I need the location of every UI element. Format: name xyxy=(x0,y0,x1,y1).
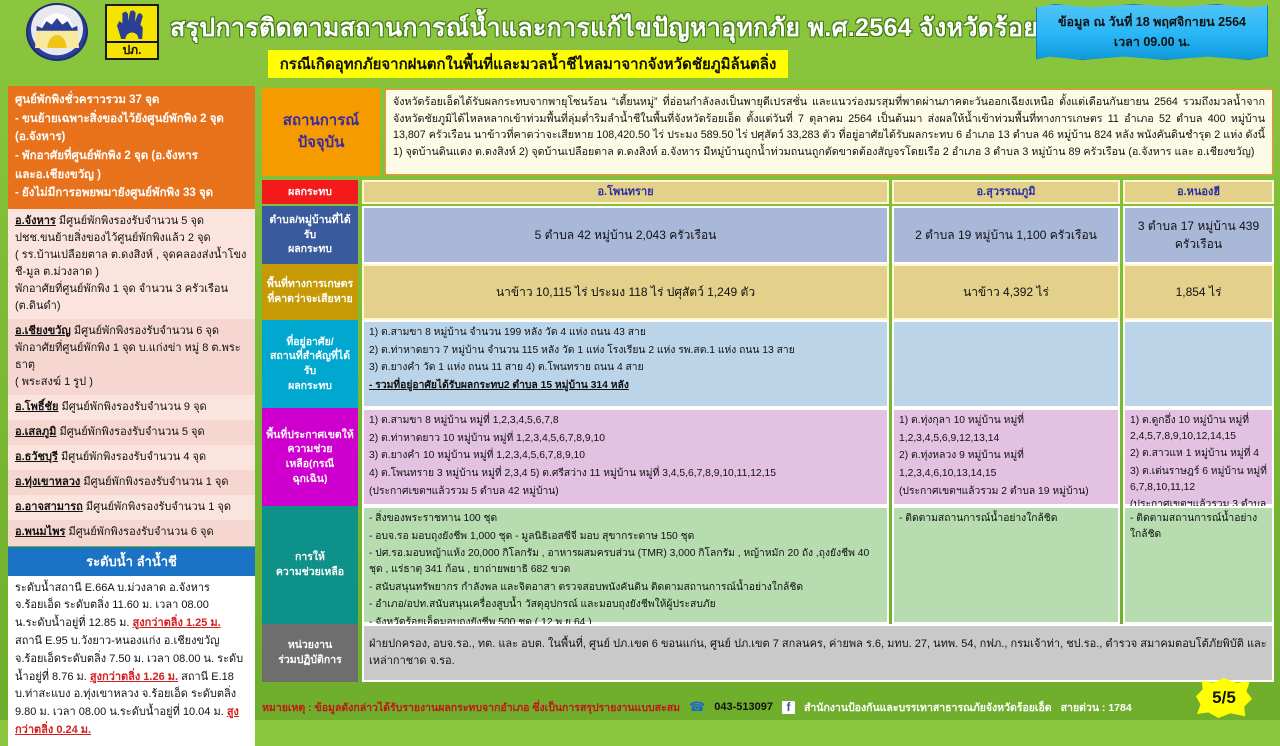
row-label-housing-impact-l2: สถานที่สำคัญที่ได้รับ xyxy=(265,349,355,378)
row-label-housing-impact: ที่อยู่อาศัย/ สถานที่สำคัญที่ได้รับ ผลกร… xyxy=(262,320,358,408)
table-header-label: ผลกระทบ xyxy=(262,180,358,204)
declared-zone-item: 2) ต.สาวแห 1 หมู่บ้าน หมู่ที่ 4 xyxy=(1130,446,1267,462)
row-label-agriculture-damage: พื้นที่ทางการเกษตร ที่คาดว่าจะเสียหาย xyxy=(262,264,358,320)
shelter-district-block: อ.ทุ่งเขาหลวง มีศูนย์พักพิงรองรับจำนวน 1… xyxy=(8,470,255,495)
shelter-summary-line-0: ศูนย์พักพิงชั่วคราวรวม 37 จุด xyxy=(15,91,248,110)
declared-zone-item: 4) ต.โพนทราย 3 หมู่บ้าน หมู่ที่ 2,3,4 5)… xyxy=(369,466,882,482)
assistance-item: ติดตามสถานการณ์น้ำอย่างใกล้ชิด xyxy=(899,511,1113,527)
row-label-affected-areas: ตำบล/หมู่บ้านที่ได้รับ ผลกระทบ xyxy=(262,206,358,264)
shelter-district-line: ( รร.บ้านเปลือยตาล ต.ดงสิงห์ , จุดคลองส่… xyxy=(15,247,248,281)
page-header: ปภ. สรุปการติดตามสถานการณ์น้ำและการแก้ไข… xyxy=(0,0,1280,84)
shelter-district-line: อ.ทุ่งเขาหลวง มีศูนย์พักพิงรองรับจำนวน 1… xyxy=(15,474,248,491)
shelter-district-block: อ.เสลภูมิ มีศูนย์พักพิงรองรับจำนวน 5 จุด xyxy=(8,420,255,445)
declared-zone-item: 1,2,3,4,6,10,13,14,15 xyxy=(899,466,1113,482)
table-row-affected-areas: ตำบล/หมู่บ้านที่ได้รับ ผลกระทบ 5 ตำบล 42… xyxy=(262,206,1274,264)
current-situation-label-l2: ปัจจุบัน xyxy=(298,132,345,154)
assistance-item: สิ่งของพระราชทาน 100 ชุด xyxy=(369,511,882,527)
footer-phone[interactable]: 043-513097 xyxy=(714,701,773,713)
assistance-item: ปศ.รอ.มอบหญ้าแห้ง 20,000 กิโลกรัม , อาหา… xyxy=(369,546,882,577)
shelter-district-list: อ.จังหาร มีศูนย์พักพิงรองรับจำนวน 5 จุดป… xyxy=(8,209,255,546)
shelter-district-name: อ.เชียงขวัญ xyxy=(15,325,71,337)
shelter-district-block: อ.จังหาร มีศูนย์พักพิงรองรับจำนวน 5 จุดป… xyxy=(8,209,255,319)
shelter-district-line: ( พระสงฆ์ 1 รูป ) xyxy=(15,374,248,391)
shelter-summary-line-2: - พักอาศัยที่ศูนย์พักพิง 2 จุด (อ.จังหาร… xyxy=(15,147,248,184)
housing-impact-total: - รวมที่อยู่อาศัยได้รับผลกระทบ2 ตำบล 15 … xyxy=(369,378,882,394)
table-row-agencies: หน่วยงาน ร่วมปฏิบัติการ ฝ่ายปกครอง, อบจ.… xyxy=(262,624,1274,682)
shelter-district-line: พักอาศัยที่ศูนย์พักพิง 1 จุด บ.แก่งข่า ห… xyxy=(15,340,248,374)
shelter-district-line: อ.โพธิ์ชัย มีศูนย์พักพิงรองรับจำนวน 9 จุ… xyxy=(15,399,248,416)
water-level-body: ระดับน้ำสถานี E.66A บ.ม่วงลาด อ.จังหาร จ… xyxy=(8,576,255,746)
table-row-declared-zones: พื้นที่ประกาศเขตให้ ความช่วยเหลือ(กรณี ฉ… xyxy=(262,408,1274,506)
page-footer: หมายเหตุ : ข้อมูลดังกล่าวได้รับรายงานผลก… xyxy=(0,694,1280,720)
hand-icon xyxy=(117,9,147,39)
shelter-district-name: อ.จังหาร xyxy=(15,215,56,227)
current-situation-label: สถานการณ์ ปัจจุบัน xyxy=(262,88,380,176)
phone-icon: ☎ xyxy=(689,699,705,715)
table-row-assistance: การให้ ความช่วยเหลือ สิ่งของพระราชทาน 10… xyxy=(262,506,1274,624)
declared-zones-suwannaphum: 1) ต.ทุ่งกุลา 10 หมู่บ้าน หมู่ที่1,2,3,4… xyxy=(892,408,1120,506)
assistance-item: อำเภอ/อปท.สนับสนุนเครื่องสูบน้ำ วัสดุอุป… xyxy=(369,597,882,613)
housing-impact-suwannaphum xyxy=(892,320,1120,408)
page-title: สรุปการติดตามสถานการณ์น้ำและการแก้ไขปัญห… xyxy=(170,8,1030,48)
timestamp-time: เวลา 09.00 น. xyxy=(1114,32,1190,52)
shelter-district-line: อ.เสลภูมิ มีศูนย์พักพิงรองรับจำนวน 5 จุด xyxy=(15,424,248,441)
shelter-district-name: อ.อาจสามารถ xyxy=(15,501,83,513)
assistance-nong-hi: ติดตามสถานการณ์น้ำอย่างใกล้ชิด xyxy=(1123,506,1274,624)
shelter-district-line: อ.ธวัชบุรี มีศูนย์พักพิงรองรับจำนวน 4 จุ… xyxy=(15,449,248,466)
current-situation-label-l1: สถานการณ์ xyxy=(283,110,359,132)
housing-impact-nong-hi xyxy=(1123,320,1274,408)
affected-areas-nong-hi: 3 ตำบล 17 หมู่บ้าน 439 ครัวเรือน xyxy=(1123,206,1274,264)
current-situation-text: จังหวัดร้อยเอ็ดได้รับผลกระทบจากพายุโซนร้… xyxy=(384,88,1274,176)
water-level-exceeds-bank: สูงกว่าตลิ่ง 1.25 ม. xyxy=(133,617,221,629)
water-level-title: ระดับน้ำ ลำน้ำชี xyxy=(8,547,255,576)
declared-zone-item: 2) ต.ทุ่งหลวง 9 หมู่บ้าน หมู่ที่ xyxy=(899,448,1113,464)
row-label-assistance: การให้ ความช่วยเหลือ xyxy=(262,506,358,624)
housing-impact-item: 3) ต.ยางคำ วัด 1 แห่ง ถนน 11 สาย 4) ต.โพ… xyxy=(369,360,882,376)
declared-zone-item: 3) ต.เด่นราษฎร์ 6 หมู่บ้าน หมู่ที่ 6,7,8… xyxy=(1130,464,1267,495)
footer-hotline: สายด่วน : 1784 xyxy=(1061,699,1132,716)
shelter-district-line: อ.จังหาร มีศูนย์พักพิงรองรับจำนวน 5 จุด xyxy=(15,213,248,230)
row-label-agriculture-damage-l2: ที่คาดว่าจะเสียหาย xyxy=(267,292,353,307)
agriculture-damage-phon-sai: นาข้าว 10,115 ไร่ ประมง 118 ไร่ ปศุสัตว์… xyxy=(362,264,889,320)
housing-impact-item: 1) ต.สามขา 8 หมู่บ้าน จำนวน 199 หลัง วัด… xyxy=(369,325,882,341)
shelter-summary-line-3: - ยังไม่มีการอพยพมายังศูนย์พักพิง 33 จุด xyxy=(15,184,248,203)
subtitle-banner: กรณีเกิดอุทกภัยจากฝนตกในพื้นที่และมวลน้ำ… xyxy=(268,50,788,78)
shelter-summary-header: ศูนย์พักพิงชั่วคราวรวม 37 จุด- ขนย้ายเฉพ… xyxy=(8,86,255,209)
shelter-district-block: อ.เชียงขวัญ มีศูนย์พักพิงรองรับจำนวน 6 จ… xyxy=(8,319,255,395)
row-label-housing-impact-l1: ที่อยู่อาศัย/ xyxy=(265,335,355,350)
ddpm-logo-label: ปภ. xyxy=(107,41,157,56)
facebook-icon[interactable]: f xyxy=(782,701,795,714)
water-level-exceeds-bank: สูงกว่าตลิ่ง 1.26 ม. xyxy=(90,671,178,683)
row-label-agencies-l2: ร่วมปฏิบัติการ xyxy=(278,653,342,668)
shelter-district-line: อ.เชียงขวัญ มีศูนย์พักพิงรองรับจำนวน 6 จ… xyxy=(15,323,248,340)
assistance-item: อบจ.รอ มอบถุงยังชีพ 1,000 ชุด - มูลนิธิเ… xyxy=(369,529,882,545)
footer-organization: สำนักงานป้องกันและบรรเทาสาธารณภัยจังหวัด… xyxy=(804,699,1052,716)
column-header-suwannaphum: อ.สุวรรณภูมิ xyxy=(892,180,1120,204)
ddpm-logo: ปภ. xyxy=(105,4,159,60)
shelter-district-line: ปชช.ขนย้ายสิ่งของไว้ศูนย์พักพิงแล้ว 2 จุ… xyxy=(15,230,248,247)
declared-zone-item: 3) ต.ยางคำ 10 หมู่บ้าน หมู่ที่ 1,2,3,4,5… xyxy=(369,448,882,464)
shelter-district-block: อ.โพธิ์ชัย มีศูนย์พักพิงรองรับจำนวน 9 จุ… xyxy=(8,395,255,420)
table-row-agriculture-damage: พื้นที่ทางการเกษตร ที่คาดว่าจะเสียหาย นา… xyxy=(262,264,1274,320)
affected-areas-phon-sai: 5 ตำบล 42 หมู่บ้าน 2,043 ครัวเรือน xyxy=(362,206,889,264)
housing-impact-item: 2) ต.ท่าหาดยาว 7 หมู่บ้าน จำนวน 115 หลัง… xyxy=(369,343,882,359)
assistance-item: สนับสนุนทรัพยากร กำลังพล และจิตอาสา ตรวจ… xyxy=(369,580,882,596)
declared-zone-item: 1) ต.ดูกอึ่ง 10 หมู่บ้าน หมู่ที่ 2,4,5,7… xyxy=(1130,413,1267,444)
row-label-declared-zones: พื้นที่ประกาศเขตให้ ความช่วยเหลือ(กรณี ฉ… xyxy=(262,408,358,506)
column-header-nong-hi: อ.หนองฮี xyxy=(1123,180,1274,204)
declared-zone-item: 1,2,3,4,5,6,9,12,13,14 xyxy=(899,431,1113,447)
declared-zone-item: 1) ต.สามขา 8 หมู่บ้าน หมู่ที่ 1,2,3,4,5,… xyxy=(369,413,882,429)
affected-areas-suwannaphum: 2 ตำบล 19 หมู่บ้าน 1,100 ครัวเรือน xyxy=(892,206,1120,264)
declared-zone-item: (ประกาศเขตฯแล้วรวม 2 ตำบล 19 หมู่บ้าน) xyxy=(899,484,1113,500)
row-label-housing-impact-l3: ผลกระทบ xyxy=(265,379,355,394)
assistance-suwannaphum: ติดตามสถานการณ์น้ำอย่างใกล้ชิด xyxy=(892,506,1120,624)
impact-table: ผลกระทบ อ.โพนทราย อ.สุวรรณภูมิ อ.หนองฮี … xyxy=(262,180,1274,682)
housing-impact-phon-sai: 1) ต.สามขา 8 หมู่บ้าน จำนวน 199 หลัง วัด… xyxy=(362,320,889,408)
table-header-row: ผลกระทบ อ.โพนทราย อ.สุวรรณภูมิ อ.หนองฮี xyxy=(262,180,1274,206)
row-label-agencies: หน่วยงาน ร่วมปฏิบัติการ xyxy=(262,624,358,682)
row-label-declared-zones-l3: ฉุกเฉิน) xyxy=(265,472,355,487)
shelter-summary-line-1: - ขนย้ายเฉพาะสิ่งของไว้ยังศูนย์พักพิง 2 … xyxy=(15,110,248,147)
footer-note: หมายเหตุ : ข้อมูลดังกล่าวได้รับรายงานผลก… xyxy=(262,699,680,716)
shelter-district-name: อ.ธวัชบุรี xyxy=(15,451,58,463)
row-label-assistance-l1: การให้ xyxy=(276,550,344,565)
shelter-district-name: อ.เสลภูมิ xyxy=(15,426,56,438)
declared-zones-phon-sai: 1) ต.สามขา 8 หมู่บ้าน หมู่ที่ 1,2,3,4,5,… xyxy=(362,408,889,506)
shelter-district-block: อ.พนมไพร มีศูนย์พักพิงรองรับจำนวน 6 จุด xyxy=(8,520,255,545)
timestamp-date: ข้อมูล ณ วันที่ 18 พฤศจิกายน 2564 xyxy=(1058,12,1246,32)
declared-zones-nong-hi: 1) ต.ดูกอึ่ง 10 หมู่บ้าน หมู่ที่ 2,4,5,7… xyxy=(1123,408,1274,506)
row-label-agriculture-damage-l1: พื้นที่ทางการเกษตร xyxy=(267,277,353,292)
declared-zone-item: 2) ต.ท่าหาดยาว 10 หมู่บ้าน หมู่ที่ 1,2,3… xyxy=(369,431,882,447)
column-header-phon-sai: อ.โพนทราย xyxy=(362,180,889,204)
page-number-badge: 5/5 xyxy=(1196,678,1252,718)
agriculture-damage-suwannaphum: นาข้าว 4,392 ไร่ xyxy=(892,264,1120,320)
shelter-district-block: อ.อาจสามารถ มีศูนย์พักพิงรองรับจำนวน 1 จ… xyxy=(8,495,255,520)
agencies-text: ฝ่ายปกครอง, อบจ.รอ., ทต. และ อบต. ในพื้น… xyxy=(362,624,1274,682)
shelter-district-name: อ.ทุ่งเขาหลวง xyxy=(15,476,80,488)
row-label-affected-areas-l2: ผลกระทบ xyxy=(265,242,355,257)
row-label-assistance-l2: ความช่วยเหลือ xyxy=(276,565,344,580)
agriculture-damage-nong-hi: 1,854 ไร่ xyxy=(1123,264,1274,320)
shelter-district-line: อ.อาจสามารถ มีศูนย์พักพิงรองรับจำนวน 1 จ… xyxy=(15,499,248,516)
assistance-item: ติดตามสถานการณ์น้ำอย่างใกล้ชิด xyxy=(1130,511,1267,542)
shelter-district-block: อ.ธวัชบุรี มีศูนย์พักพิงรองรับจำนวน 4 จุ… xyxy=(8,445,255,470)
data-timestamp-ribbon: ข้อมูล ณ วันที่ 18 พฤศจิกายน 2564 เวลา 0… xyxy=(1036,4,1268,60)
row-label-affected-areas-l1: ตำบล/หมู่บ้านที่ได้รับ xyxy=(265,213,355,242)
row-label-declared-zones-l1: พื้นที่ประกาศเขตให้ xyxy=(265,428,355,443)
shelter-district-line: พักอาศัยที่ศูนย์พักพิง 1 จุด จำนวน 3 ครั… xyxy=(15,281,248,298)
shelter-district-name: อ.พนมไพร xyxy=(15,526,65,538)
row-label-agencies-l1: หน่วยงาน xyxy=(278,638,342,653)
assistance-phon-sai: สิ่งของพระราชทาน 100 ชุดอบจ.รอ มอบถุงยัง… xyxy=(362,506,889,624)
shelter-district-line: อ.พนมไพร มีศูนย์พักพิงรองรับจำนวน 6 จุด xyxy=(15,524,248,541)
temple-icon xyxy=(35,18,79,48)
declared-zone-item: (ประกาศเขตฯแล้วรวม 5 ตำบล 42 หมู่บ้าน) xyxy=(369,484,882,500)
declared-zone-item: 1) ต.ทุ่งกุลา 10 หมู่บ้าน หมู่ที่ xyxy=(899,413,1113,429)
provincial-seal-logo xyxy=(26,3,88,61)
shelter-district-line: (ต.ดินดำ) xyxy=(15,298,248,315)
table-row-housing-impact: ที่อยู่อาศัย/ สถานที่สำคัญที่ได้รับ ผลกร… xyxy=(262,320,1274,408)
row-label-declared-zones-l2: ความช่วยเหลือ(กรณี xyxy=(265,442,355,471)
shelter-sidebar: ศูนย์พักพิงชั่วคราวรวม 37 จุด- ขนย้ายเฉพ… xyxy=(8,86,255,746)
shelter-district-name: อ.โพธิ์ชัย xyxy=(15,401,58,413)
